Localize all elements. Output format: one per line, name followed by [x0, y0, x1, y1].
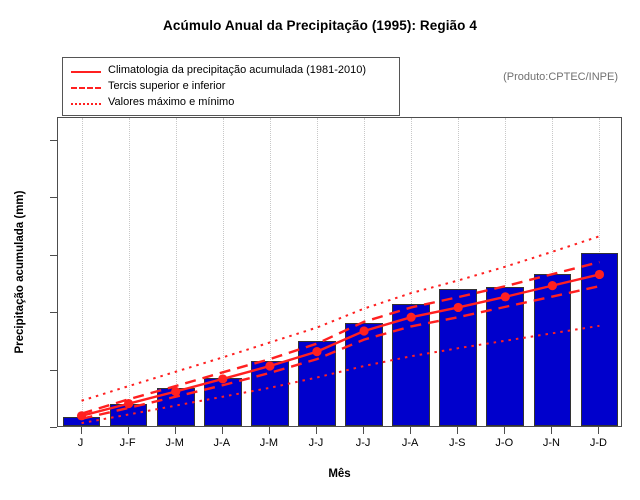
y-tick-mark: [50, 370, 57, 371]
x-tick-label: J-S: [435, 437, 479, 449]
legend-item-label: Valores máximo e mínimo: [108, 96, 234, 108]
legend-item: Tercis superior e inferior: [63, 80, 399, 96]
x-tick-label: J-D: [576, 437, 620, 449]
climatology-marker: [501, 292, 510, 301]
x-tick-mark: [128, 427, 129, 434]
legend-item-label: Tercis superior e inferior: [108, 80, 225, 92]
x-axis-title: Mês: [57, 468, 622, 480]
plot-area: [57, 117, 622, 427]
x-tick-label: J: [59, 437, 103, 449]
reference-line: [82, 262, 600, 414]
reference-line: [82, 274, 600, 415]
legend-item: Valores máximo e mínimo: [63, 96, 399, 112]
reference-line: [82, 236, 600, 400]
legend-item-label: Climatologia da precipitação acumulada (…: [108, 64, 366, 76]
x-tick-label: J-M: [247, 437, 291, 449]
x-tick-label: J-J: [294, 437, 338, 449]
x-tick-mark: [175, 427, 176, 434]
x-tick-mark: [316, 427, 317, 434]
climatology-marker: [218, 374, 227, 383]
y-axis-title: Precipitação acumulada (mm): [14, 117, 30, 427]
x-tick-mark: [598, 427, 599, 434]
legend-line-swatch: [71, 71, 101, 73]
x-tick-label: J-A: [200, 437, 244, 449]
x-tick-mark: [551, 427, 552, 434]
x-tick-mark: [504, 427, 505, 434]
chart-title: Acúmulo Anual da Precipitação (1995): Re…: [0, 18, 640, 33]
climatology-marker: [359, 326, 368, 335]
x-tick-label: J-J: [341, 437, 385, 449]
x-tick-label: J-A: [388, 437, 432, 449]
legend-line-swatch: [71, 103, 101, 105]
climatology-marker: [407, 313, 416, 322]
y-tick-mark: [50, 427, 57, 428]
precipitation-accumulation-chart: Acúmulo Anual da Precipitação (1995): Re…: [0, 0, 640, 500]
climatology-marker: [265, 361, 274, 370]
y-tick-mark: [50, 255, 57, 256]
y-tick-mark: [50, 197, 57, 198]
x-tick-label: J-F: [106, 437, 150, 449]
y-tick-mark: [50, 312, 57, 313]
x-tick-mark: [410, 427, 411, 434]
legend: Climatologia da precipitação acumulada (…: [62, 57, 400, 116]
x-tick-mark: [363, 427, 364, 434]
climatology-marker: [595, 270, 604, 279]
x-tick-label: J-N: [529, 437, 573, 449]
reference-line-series: [58, 118, 623, 428]
legend-line-swatch: [71, 87, 101, 89]
produto-source-tag: (Produto:CPTEC/INPE): [503, 71, 618, 83]
x-tick-label: J-O: [482, 437, 526, 449]
y-tick-mark: [50, 140, 57, 141]
legend-item: Climatologia da precipitação acumulada (…: [63, 64, 399, 80]
x-tick-mark: [269, 427, 270, 434]
x-tick-mark: [81, 427, 82, 434]
climatology-marker: [312, 347, 321, 356]
x-tick-mark: [222, 427, 223, 434]
x-tick-label: J-M: [153, 437, 197, 449]
climatology-marker: [454, 303, 463, 312]
climatology-marker: [548, 281, 557, 290]
x-tick-mark: [457, 427, 458, 434]
reference-line: [82, 286, 600, 419]
